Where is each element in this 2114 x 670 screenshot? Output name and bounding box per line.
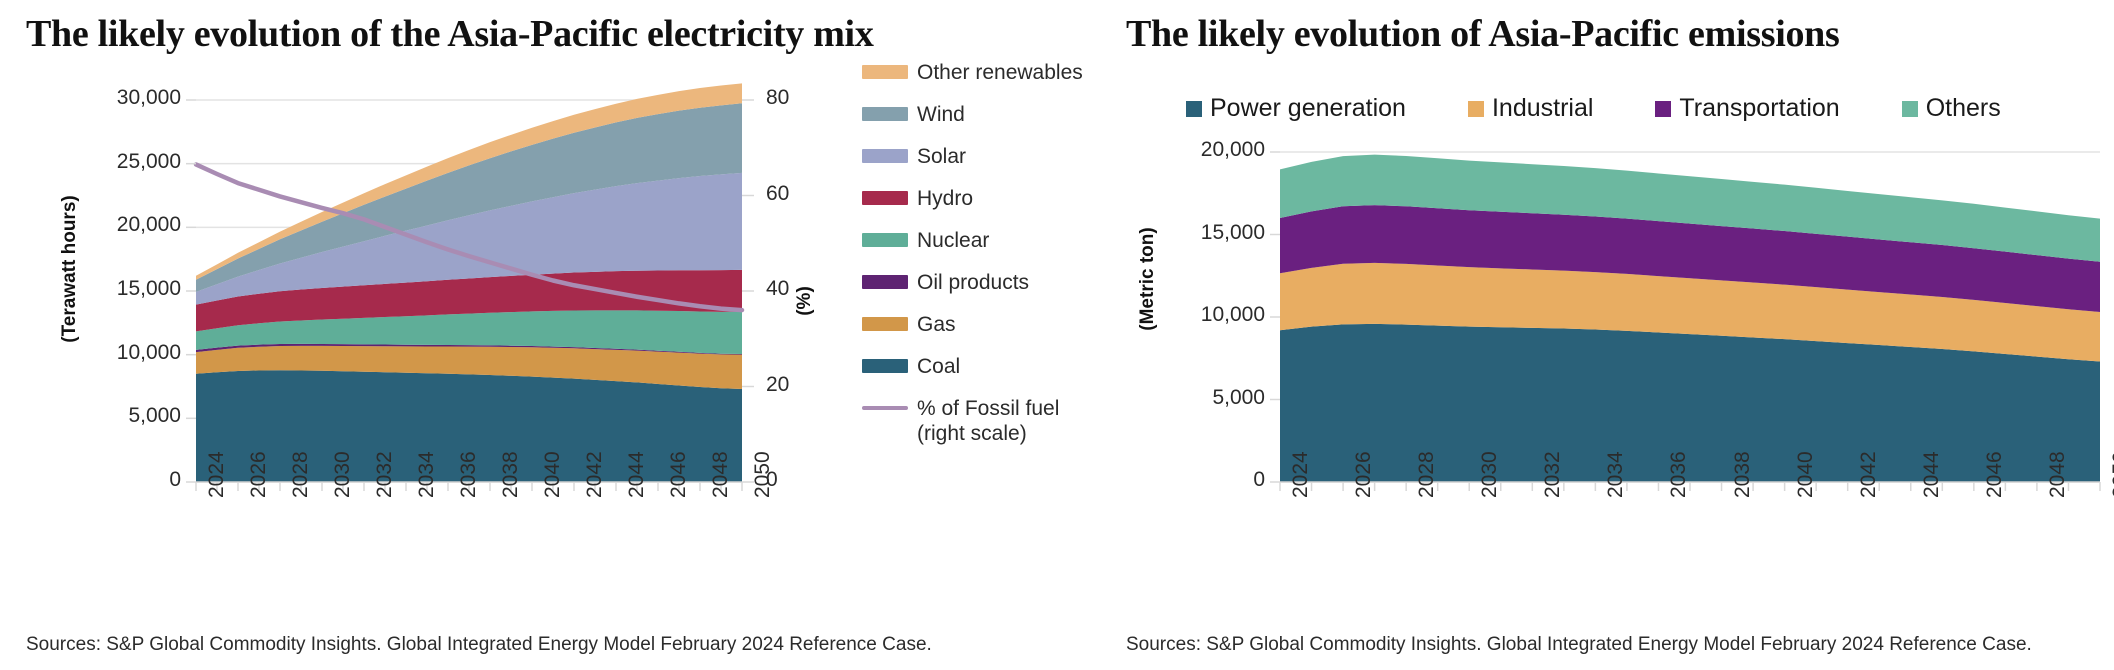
legend-item-label: Nuclear [917,228,989,253]
y-axis-tick-label: 5,000 [46,404,181,428]
x-axis-tick-label: 2034 [415,451,439,498]
legend-item-oil-products[interactable]: Oil products [862,270,1102,312]
legend-swatch-icon [862,149,908,163]
legend-swatch-icon [862,275,908,289]
x-axis-tick-label: 2046 [667,451,691,498]
y-axis-tick-label: 5,000 [1130,386,1265,410]
legend-item-label: Wind [917,102,965,127]
legend-item-nuclear[interactable]: Nuclear [862,228,1102,270]
x-axis-tick-label: 2042 [1857,451,1881,498]
x-axis-tick-label: 2048 [2046,451,2070,498]
x-axis-tick-label: 2024 [205,451,229,498]
legend-item-label: Oil products [917,270,1029,295]
left-chart-panel: The likely evolution of the Asia-Pacific… [0,0,1110,670]
legend-item-solar[interactable]: Solar [862,144,1102,186]
x-axis-tick-label: 2030 [331,451,355,498]
x-axis-tick-label: 2038 [499,451,523,498]
y-axis-tick-label: 20,000 [46,213,181,237]
x-axis-tick-label: 2044 [1920,451,1944,498]
legend-swatch-icon [862,107,908,121]
legend-item-gas[interactable]: Gas [862,312,1102,354]
x-axis-tick-label: 2040 [541,451,565,498]
legend-item-hydro[interactable]: Hydro [862,186,1102,228]
y-axis-tick-label: 20,000 [1130,138,1265,162]
right-source-note: Sources: S&P Global Commodity Insights. … [1126,634,2032,656]
legend-swatch-icon [862,65,908,79]
legend-item-label: Coal [917,354,960,379]
x-axis-tick-label: 2034 [1604,451,1628,498]
x-axis-tick-label: 2050 [751,451,775,498]
dual-chart-figure: The likely evolution of the Asia-Pacific… [0,0,2114,670]
left-chart-legend: Other renewablesWindSolarHydroNuclearOil… [862,60,1102,438]
x-axis-tick-label: 2036 [1667,451,1691,498]
y-axis-tick-label: 0 [1130,468,1265,492]
legend-item-label: % of Fossil fuel(right scale) [917,396,1059,446]
y-axis-tick-label: 25,000 [46,150,181,174]
x-axis-tick-label: 2030 [1478,451,1502,498]
x-axis-tick-label: 2028 [1415,451,1439,498]
y-axis-tick-label: 10,000 [46,341,181,365]
y-axis-tick-label: 30,000 [46,86,181,110]
legend-item-label: Other renewables [917,60,1083,85]
x-axis-tick-label: 2026 [1352,451,1376,498]
legend-item-label: Solar [917,144,966,169]
x-axis-tick-label: 2046 [1983,451,2007,498]
legend-swatch-icon [862,406,908,410]
y-axis-tick-label: 15,000 [1130,221,1265,245]
y-axis-tick-label: 0 [46,468,181,492]
x-axis-tick-label: 2050 [2109,451,2114,498]
x-axis-tick-label: 2024 [1289,451,1313,498]
right-chart-panel: The likely evolution of Asia-Pacific emi… [1110,0,2114,670]
x-axis-tick-label: 2048 [709,451,733,498]
x-axis-tick-label: 2038 [1731,451,1755,498]
right-plot-area [1110,0,2114,600]
legend-item-other-renewables[interactable]: Other renewables [862,60,1102,102]
x-axis-tick-label: 2032 [373,451,397,498]
legend-item-of-fossil-fuel[interactable]: % of Fossil fuel(right scale) [862,396,1102,438]
x-axis-tick-label: 2042 [583,451,607,498]
x-axis-tick-label: 2040 [1794,451,1818,498]
legend-item-wind[interactable]: Wind [862,102,1102,144]
right-chart-svg [1110,0,2114,600]
legend-item-label: Gas [917,312,956,337]
y2-axis-tick-label: 80 [766,86,789,110]
left-source-note: Sources: S&P Global Commodity Insights. … [26,634,932,656]
legend-swatch-icon [862,359,908,373]
y2-axis-tick-label: 40 [766,277,789,301]
x-axis-tick-label: 2036 [457,451,481,498]
y-axis-tick-label: 10,000 [1130,303,1265,327]
y-axis-tick-label: 15,000 [46,277,181,301]
x-axis-tick-label: 2044 [625,451,649,498]
legend-swatch-icon [862,191,908,205]
legend-item-coal[interactable]: Coal [862,354,1102,396]
legend-item-label: Hydro [917,186,973,211]
y2-axis-tick-label: 20 [766,373,789,397]
legend-swatch-icon [862,317,908,331]
x-axis-tick-label: 2026 [247,451,271,498]
legend-swatch-icon [862,233,908,247]
x-axis-tick-label: 2032 [1541,451,1565,498]
y2-axis-tick-label: 60 [766,182,789,206]
x-axis-tick-label: 2028 [289,451,313,498]
